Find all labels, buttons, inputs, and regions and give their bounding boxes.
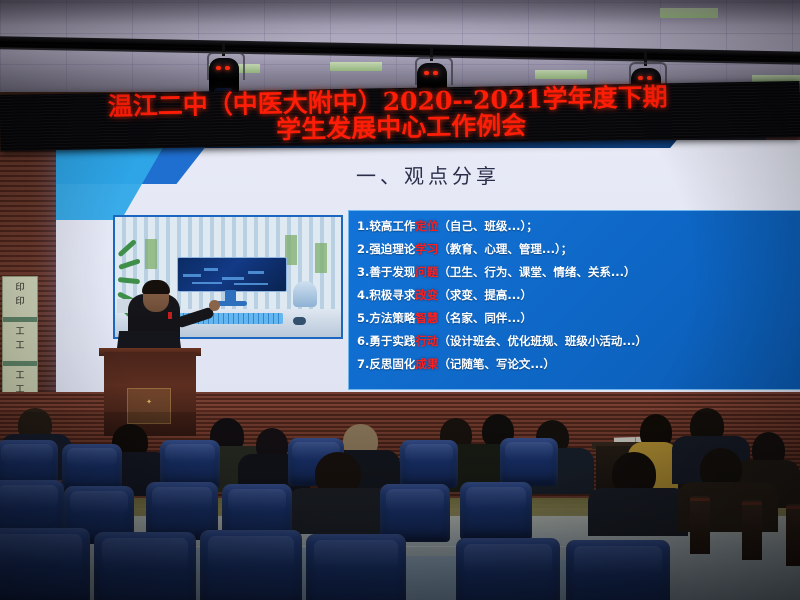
calligraphy-char: 印	[3, 297, 37, 306]
slide-bullet: 5.方法策略智慧（名家、同伴...）	[357, 313, 532, 325]
foliage	[315, 243, 327, 273]
slide-bullet: 2.强迫理论学习（教育、心理、管理...）；	[357, 244, 572, 256]
ultrawide-monitor	[177, 257, 287, 292]
slide-bullet: 6.勇于实践行动（设计班会、优化班规、班级小活动...）	[357, 336, 647, 348]
podium-emblem: ✦	[127, 388, 171, 424]
slide-bullet: 1.较高工作定位（自己、班级...）；	[357, 221, 538, 233]
conference-photo: 印 印 工 工 工 工 印 印 一、观点分享	[0, 0, 800, 600]
calligraphy-char: 工	[3, 327, 37, 336]
light-led-icon	[216, 66, 221, 70]
attendee-shoulders	[288, 488, 392, 534]
calligraphy-char: 工	[3, 341, 37, 350]
presenter-hand	[209, 300, 220, 311]
slide-bullet: 3.善于发现问题（卫生、行为、课堂、情绪、关系...）	[357, 267, 635, 279]
calligraphy-char: 工	[3, 371, 37, 380]
attendee-shoulders	[588, 488, 688, 536]
auditorium-seat	[62, 444, 122, 492]
auditorium-seat	[200, 530, 302, 600]
light-led-icon	[638, 76, 643, 80]
slide-bullet: 7.反思固化成果（记随笔、写论文...）	[357, 359, 555, 371]
slide-bullet: 4.积极寻求改变（求变、提高...）	[357, 290, 532, 302]
auditorium-seat	[460, 482, 532, 540]
auditorium-seat	[160, 440, 220, 488]
presenter-laptop	[117, 331, 181, 350]
auditorium-seat	[456, 538, 560, 600]
light-led-icon	[433, 71, 438, 75]
foliage	[145, 239, 157, 269]
slide-title: 一、观点分享	[356, 160, 500, 189]
presenter-hair	[142, 280, 170, 294]
calligraphy-char: 印	[3, 283, 37, 292]
chair-armrest	[690, 496, 710, 554]
light-led-icon	[647, 76, 652, 80]
light-led-icon	[225, 66, 230, 70]
auditorium-seat	[400, 440, 458, 488]
auditorium-seat	[94, 532, 196, 600]
mouse	[293, 317, 306, 325]
presenter-badge	[168, 312, 172, 319]
chair-armrest	[742, 500, 762, 560]
light-led-icon	[424, 71, 429, 75]
auditorium-seat	[566, 540, 670, 600]
auditorium-seat	[0, 528, 90, 600]
desk-speaker	[293, 281, 317, 307]
auditorium-seat	[306, 534, 406, 600]
chair-armrest	[786, 504, 800, 566]
auditorium-seat	[500, 438, 558, 486]
slide-content-box: 1.较高工作定位（自己、班级...）； 2.强迫理论学习（教育、心理、管理...…	[348, 210, 800, 390]
